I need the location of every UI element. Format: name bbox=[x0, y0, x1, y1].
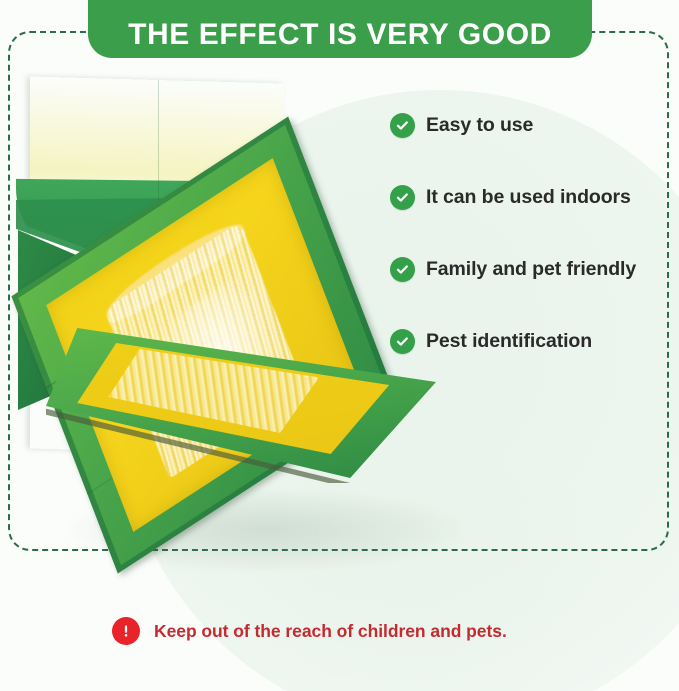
feature-item-pest-identification: Pest identification bbox=[390, 324, 670, 358]
feature-item-label: Family and pet friendly bbox=[426, 258, 636, 281]
feature-list: Easy to use It can be used indoors Famil… bbox=[390, 108, 670, 396]
product-tray bbox=[11, 117, 394, 574]
check-circle-icon bbox=[390, 185, 415, 210]
product-infographic-poster: THE EFFECT IS VERY GOOD bbox=[0, 0, 679, 691]
feature-item-label: It can be used indoors bbox=[426, 186, 631, 209]
feature-item-label: Pest identification bbox=[426, 330, 592, 353]
page-title: THE EFFECT IS VERY GOOD bbox=[128, 20, 552, 50]
feature-item-indoors: It can be used indoors bbox=[390, 180, 670, 214]
feature-item-label: Easy to use bbox=[426, 114, 533, 137]
check-circle-icon bbox=[390, 113, 415, 138]
check-circle-icon bbox=[390, 257, 415, 282]
exclamation-circle-icon bbox=[112, 617, 140, 645]
title-banner: THE EFFECT IS VERY GOOD bbox=[88, 0, 592, 58]
feature-item-family-pet-friendly: Family and pet friendly bbox=[390, 252, 670, 286]
feature-item-easy-to-use: Easy to use bbox=[390, 108, 670, 142]
safety-warning: Keep out of the reach of children and pe… bbox=[112, 617, 507, 645]
check-circle-icon bbox=[390, 329, 415, 354]
safety-warning-text: Keep out of the reach of children and pe… bbox=[154, 621, 507, 642]
